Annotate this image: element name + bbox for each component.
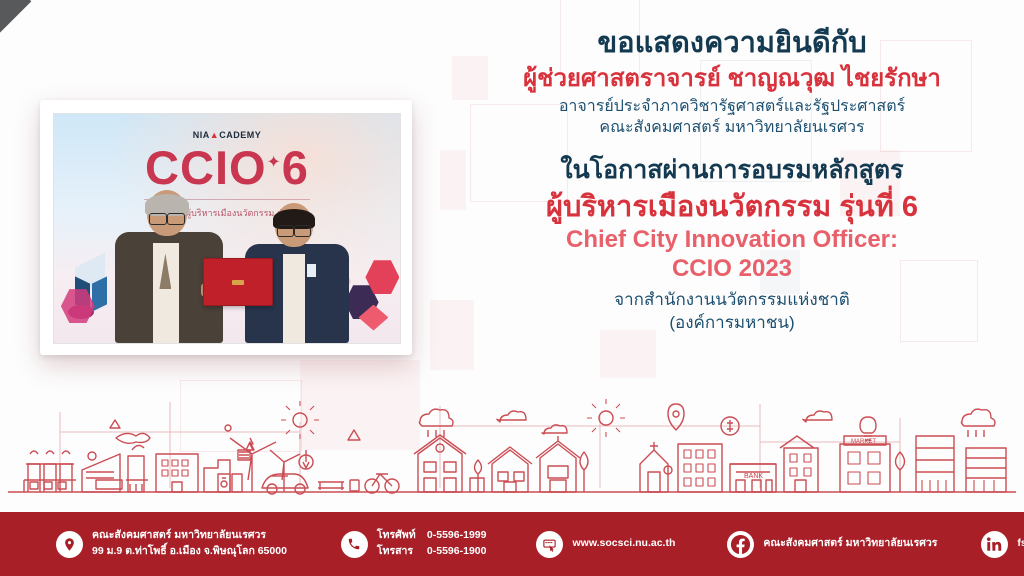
- website-cursor-icon: [536, 531, 563, 558]
- headline-congratulations: ขอแสดงความยินดีกับ: [440, 26, 1024, 61]
- nia-logo-prefix: NIA: [193, 130, 210, 140]
- phone-label: โทรศัพท์: [377, 528, 427, 544]
- occasion-text: ในโอกาสผ่านการอบรมหลักสูตร: [440, 155, 1024, 186]
- phone-value: 0-5596-1999: [427, 528, 487, 544]
- linkedin-value: fss-nu: [1017, 536, 1024, 552]
- nia-logo-suffix: CADEMY: [219, 130, 261, 140]
- smart-city-illustration: BANK MARKET: [0, 392, 1024, 512]
- footer-facebook[interactable]: คณะสังคมศาสตร์ มหาวิทยาลัยนเรศวร: [727, 531, 937, 558]
- honoree-faculty: คณะสังคมศาสตร์ มหาวิทยาลัยนเรศวร: [440, 117, 1024, 138]
- address-line-2: 99 ม.9 ต.ท่าโพธิ์ อ.เมือง จ.พิษณุโลก 650…: [92, 544, 287, 560]
- organizer-name: จากสำนักงานนวัตกรรมแห่งชาติ: [440, 289, 1024, 312]
- photo-person-left: [109, 164, 229, 343]
- website-value: www.socsci.nu.ac.th: [572, 536, 675, 552]
- facebook-value: คณะสังคมศาสตร์ มหาวิทยาลัยนเรศวร: [763, 536, 937, 552]
- photo-frame: NIA▲CADEMY CCIO✦6 หลักสูตรผู้บริหารเมือง…: [40, 100, 412, 355]
- nia-academy-logo: NIA▲CADEMY: [193, 130, 261, 140]
- market-label: MARKET: [851, 439, 876, 445]
- footer-website[interactable]: www.socsci.nu.ac.th: [536, 531, 675, 558]
- certificate-folder: [203, 258, 273, 306]
- footer-phone[interactable]: โทรศัพท์0-5596-1999 โทรสาร0-5596-1900: [341, 528, 487, 560]
- footer-linkedin[interactable]: fss-nu: [981, 531, 1024, 558]
- program-name-thai: ผู้บริหารเมืองนวัตกรรม รุ่นที่ 6: [440, 189, 1024, 225]
- honoree-name: ผู้ช่วยศาสตราจารย์ ชาญณวุฒ ไชยรักษา: [440, 65, 1024, 94]
- bank-label: BANK: [744, 473, 763, 480]
- congratulations-banner: NIA▲CADEMY CCIO✦6 หลักสูตรผู้บริหารเมือง…: [0, 0, 1024, 576]
- honoree-department: อาจารย์ประจำภาควิชารัฐศาสตร์และรัฐประศาส…: [440, 96, 1024, 117]
- program-name-english: Chief City Innovation Officer:: [440, 226, 1024, 255]
- nia-logo-mark: ▲: [210, 130, 219, 140]
- linkedin-icon: [981, 531, 1008, 558]
- phone-icon: [341, 531, 368, 558]
- fax-label: โทรสาร: [377, 544, 427, 560]
- facebook-icon: [727, 531, 754, 558]
- address-line-1: คณะสังคมศาสตร์ มหาวิทยาลัยนเรศวร: [92, 528, 287, 544]
- location-pin-icon: [56, 531, 83, 558]
- photo: NIA▲CADEMY CCIO✦6 หลักสูตรผู้บริหารเมือง…: [53, 113, 401, 344]
- organizer-type: (องค์การมหาชน): [440, 312, 1024, 335]
- fax-value: 0-5596-1900: [427, 544, 487, 560]
- footer-address: คณะสังคมศาสตร์ มหาวิทยาลัยนเรศวร 99 ม.9 …: [56, 528, 287, 560]
- program-code-year: CCIO 2023: [440, 255, 1024, 284]
- footer-contact-bar: คณะสังคมศาสตร์ มหาวิทยาลัยนเรศวร 99 ม.9 …: [0, 512, 1024, 576]
- sparkle-icon: ✦: [267, 152, 282, 171]
- congratulations-text-block: ขอแสดงความยินดีกับ ผู้ช่วยศาสตราจารย์ ชา…: [440, 26, 1024, 335]
